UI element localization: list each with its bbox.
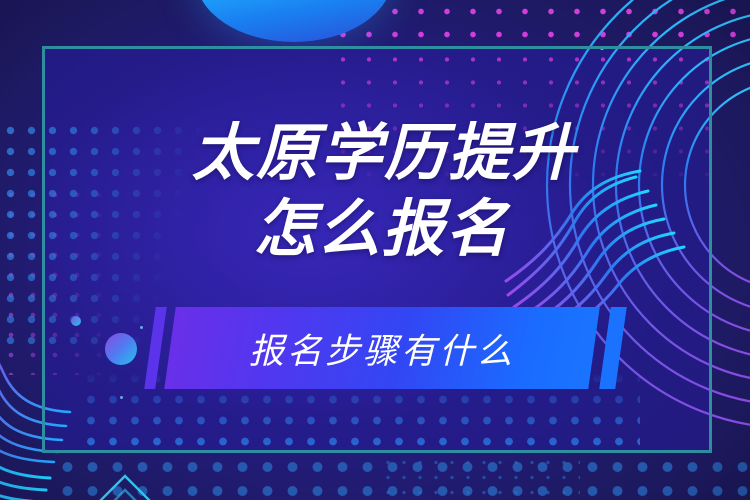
ribbon-accent-bar-left: [144, 307, 167, 389]
subtitle-text: 报名步骤有什么: [170, 307, 594, 389]
ribbon-accent-bar-right: [599, 307, 627, 389]
background-vignette: [0, 0, 750, 500]
subtitle-ribbon: 报名步骤有什么: [0, 307, 750, 389]
poster-banner: 太原学历提升 怎么报名 报名步骤有什么: [0, 0, 750, 500]
